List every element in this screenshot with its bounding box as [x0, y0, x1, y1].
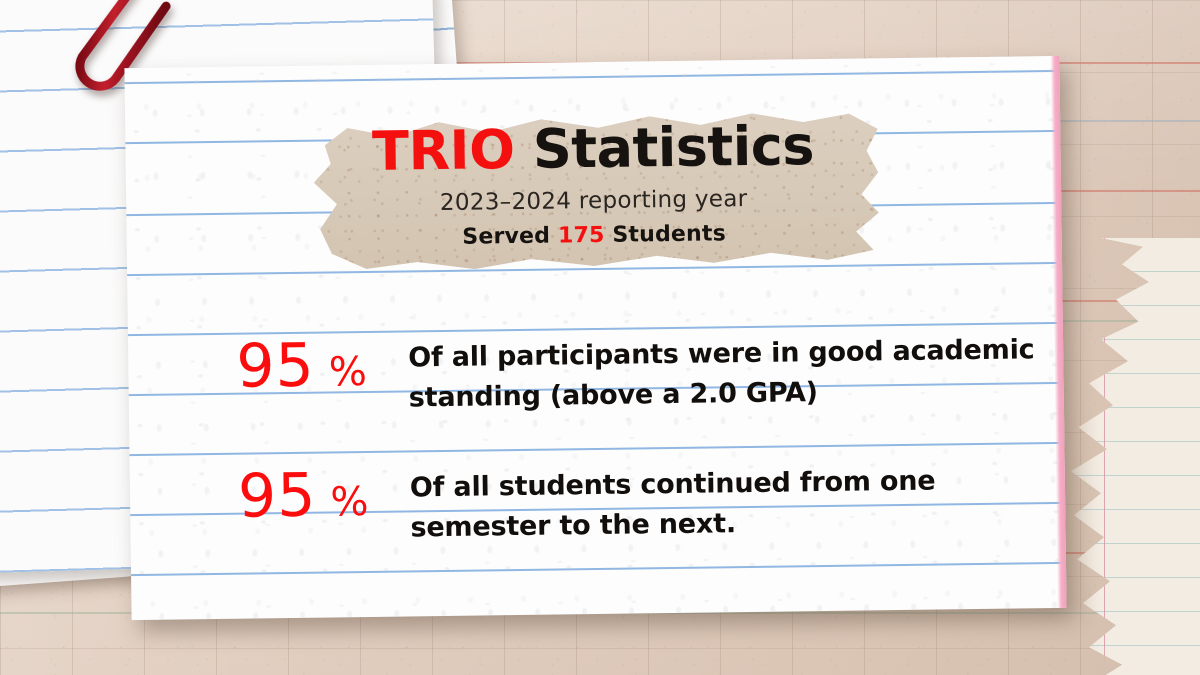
- stat-number: 95: [236, 336, 315, 397]
- stat-number: 95: [238, 466, 317, 527]
- stat-percent-sign: %: [329, 352, 368, 392]
- page-title: TRIO Statistics: [125, 116, 1061, 182]
- card-content: TRIO Statistics 2023–2024 reporting year…: [124, 56, 1066, 620]
- screenshot-stage: TRIO Statistics 2023–2024 reporting year…: [0, 0, 1200, 675]
- stat-description-line: standing (above a 2.0 GPA): [409, 370, 1036, 418]
- stat-row: 95 % Of all participants were in good ac…: [236, 324, 1024, 420]
- stat-description: Of all students continued from one semes…: [410, 454, 1026, 548]
- index-card: TRIO Statistics 2023–2024 reporting year…: [124, 56, 1066, 620]
- title-trio-word: TRIO: [372, 118, 515, 183]
- served-students-line: Served 175 Students: [127, 217, 1062, 254]
- stat-description-line: Of all students continued from one: [410, 460, 1025, 508]
- served-suffix: Students: [604, 221, 726, 248]
- stat-figure: 95 %: [238, 462, 411, 526]
- stat-description: Of all participants were in good academi…: [408, 324, 1035, 418]
- stat-description-line: Of all participants were in good academi…: [408, 330, 1035, 378]
- stat-figure: 95 %: [236, 332, 409, 396]
- stat-row: 95 % Of all students continued from one …: [238, 454, 1026, 550]
- served-prefix: Served: [462, 223, 558, 249]
- stat-description-line: semester to the next.: [410, 500, 1025, 548]
- title-block: TRIO Statistics 2023–2024 reporting year…: [125, 116, 1062, 254]
- stat-percent-sign: %: [330, 482, 369, 522]
- served-count: 175: [558, 223, 605, 249]
- reporting-year-subtitle: 2023–2024 reporting year: [126, 182, 1061, 220]
- title-statistics-word: Statistics: [514, 114, 814, 181]
